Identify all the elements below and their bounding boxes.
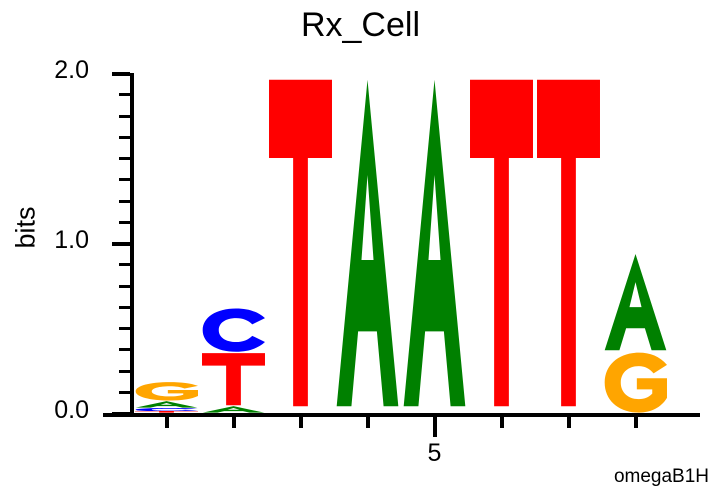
y-axis-line [130,73,134,417]
y-axis-minor-tick [119,93,130,96]
logo-stack [602,252,669,414]
x-axis-line [103,413,700,417]
y-axis-major-tick [112,412,130,416]
y-axis-tick-label: 0.0 [25,396,89,425]
logo-letter-t [200,352,267,406]
y-axis-minor-tick [119,136,130,139]
y-axis-tick-label: 2.0 [25,56,89,85]
logo-letter-a [200,406,267,413]
x-axis-minor-tick [366,417,370,428]
logo-letter-a [401,73,468,413]
y-axis-tick-label: 1.0 [25,226,89,255]
logo-stack [535,73,602,413]
x-axis-tick-label: 5 [415,439,455,468]
x-axis-major-tick [433,417,437,437]
x-axis-minor-tick [165,417,169,428]
logo-letter-t [267,73,334,413]
y-axis-minor-tick [119,306,130,309]
y-axis-minor-tick [119,391,130,394]
logo-stack [267,73,334,413]
x-axis-minor-tick [567,417,571,428]
x-axis-minor-tick [634,417,638,428]
y-axis-minor-tick [119,348,130,351]
logo-letter-a [334,73,401,413]
logo-letter-a [602,252,669,352]
logo-letter-g [133,382,200,401]
y-axis-major-tick [112,72,130,76]
fineprint-label: omegaB1H [614,466,709,488]
x-axis-minor-tick [500,417,504,428]
y-axis-major-tick [112,242,130,246]
y-axis-minor-tick [119,327,130,330]
logo-letter-c [133,408,200,411]
y-axis-minor-tick [119,221,130,224]
logo-stack [200,308,267,413]
y-axis-minor-tick [119,115,130,118]
y-axis-minor-tick [119,370,130,373]
x-axis-minor-tick [232,417,236,428]
logo-stack [334,73,401,413]
y-axis-minor-tick [119,178,130,181]
logo-letter-t [535,73,602,413]
logo-stack [468,73,535,413]
y-axis-minor-tick [119,285,130,288]
sequence-logo-figure: Rx_Cell bits 2.01.00.05 omegaB1H [0,0,721,496]
page-title: Rx_Cell [0,6,721,45]
logo-stack [133,382,200,413]
y-axis-minor-tick [119,263,130,266]
y-axis-minor-tick [119,157,130,160]
logo-letter-g [602,352,669,413]
y-axis-minor-tick [119,200,130,203]
logo-letter-t [133,411,200,413]
logo-letter-t [468,73,535,413]
logo-letter-c [200,308,267,352]
x-axis-minor-tick [299,417,303,428]
logo-letter-a [133,401,200,408]
logo-stack [401,73,468,413]
